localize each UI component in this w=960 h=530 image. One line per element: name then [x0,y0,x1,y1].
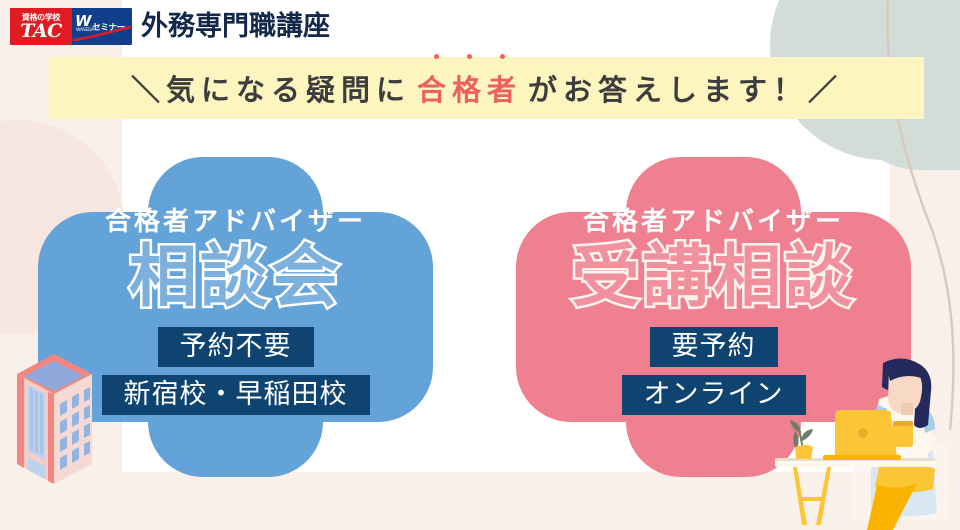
status-badge: 予約不要 [158,327,314,367]
highlight-banner-text: ＼ 気になる疑問に 合格者 がお答えします！ ／ [131,67,843,109]
card-subtitle: 合格者アドバイザー [583,207,844,237]
location-badge: 新宿校・早稲田校 [102,375,370,415]
tac-logo-block: 資格の学校 TAC [10,8,72,45]
tac-logo-wordmark: TAC [20,22,61,41]
banner-text-after: がお答えします！ [528,67,808,109]
highlight-banner: ＼ 気になる疑問に 合格者 がお答えします！ ／ [50,57,924,119]
card-title: 受講相談 [571,239,855,317]
banner-lead-mark: ＼ [131,67,166,109]
status-badge: 要予約 [650,327,778,367]
banner-emphasis-label: 合格者 [417,73,522,107]
banner-emphasis-text: 合格者 [411,67,528,109]
promotional-banner: 資格の学校 TAC W WASEDA セミナー 外務専門職講座 ＼ 気になる疑問… [0,0,960,530]
card-title: 相談会 [129,239,342,317]
w-seminar-logo-block: W WASEDA セミナー [72,8,132,45]
card-badge-list: 予約不要 新宿校・早稲田校 [102,327,370,415]
office-building-icon [4,342,104,492]
w-seminar-label: セミナー [79,21,124,33]
banner-trail-mark: ／ [808,67,843,109]
woman-at-laptop-icon [775,355,960,530]
emphasis-dots-icon [411,54,528,59]
tac-w-seminar-logo: 資格の学校 TAC W WASEDA セミナー [10,8,132,45]
card-subtitle: 合格者アドバイザー [105,207,366,237]
page-title: 外務専門職講座 [141,12,330,42]
header: 資格の学校 TAC W WASEDA セミナー 外務専門職講座 [10,8,330,45]
banner-text-before: 気になる疑問に [166,67,411,109]
